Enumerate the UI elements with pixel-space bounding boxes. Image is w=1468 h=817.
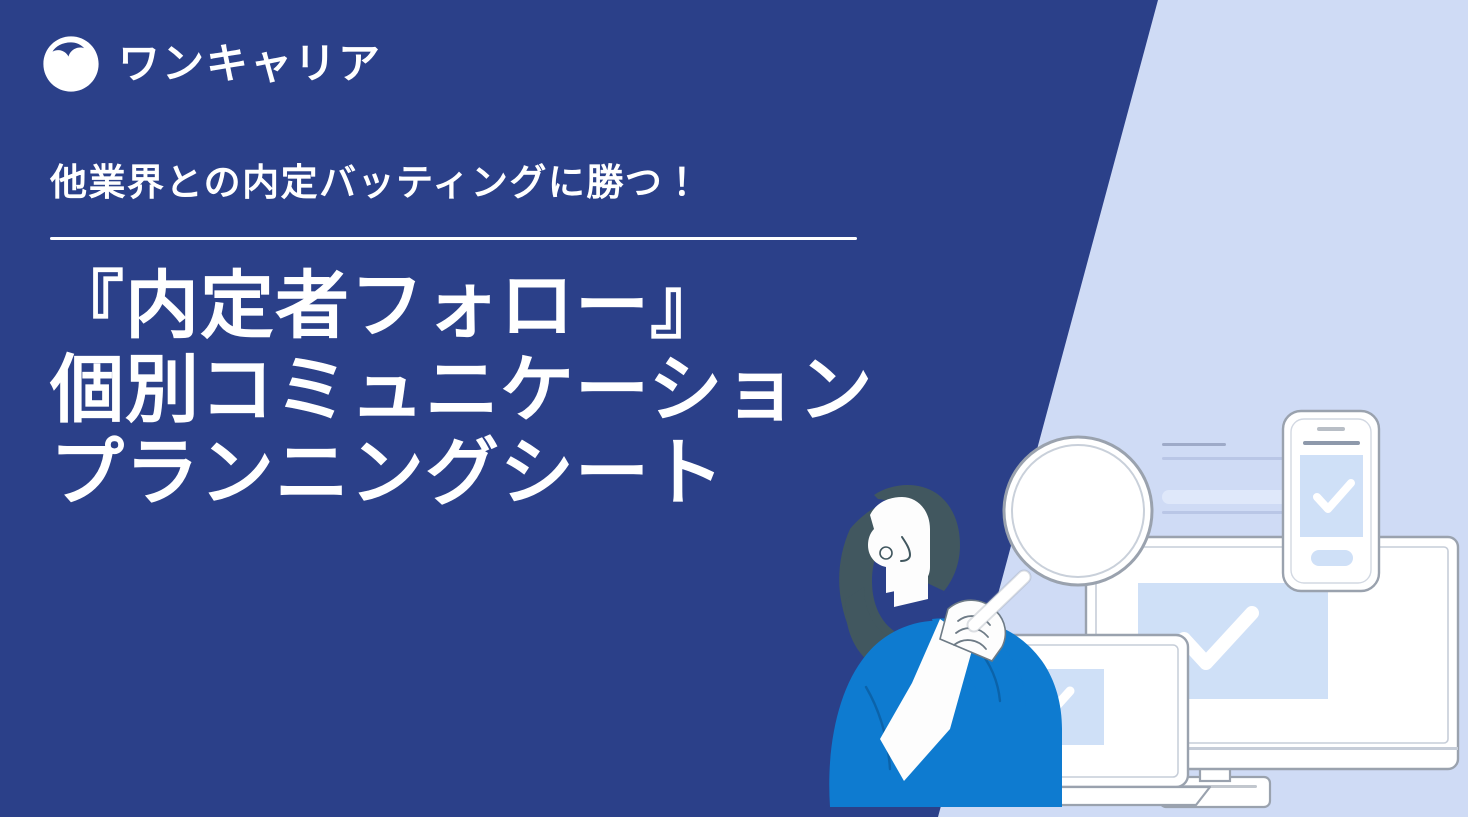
decorative-text-lines (1162, 443, 1362, 543)
onecareer-swirl-logo-icon (40, 33, 102, 95)
hero-copy: 他業界との内定バッティングに勝つ！ 『内定者フォロー』 個別コミュニケーション … (50, 160, 980, 515)
hero-title-line-3: プランニングシート (50, 431, 980, 515)
hero-title-line-1: 『内定者フォロー』 (50, 264, 980, 348)
hero-title: 『内定者フォロー』 個別コミュニケーション プランニングシート (50, 264, 980, 515)
hero-title-line-2: 個別コミュニケーション (50, 348, 980, 432)
smartphone-check (1283, 411, 1379, 591)
brand-logo: ワンキャリア (40, 33, 382, 95)
brand-name: ワンキャリア (118, 43, 382, 85)
eyebrow-divider (50, 237, 857, 240)
hero-eyebrow: 他業界との内定バッティングに勝つ！ (50, 160, 980, 206)
desktop-monitor-check (1086, 537, 1458, 807)
hero-banner: ワンキャリア 他業界との内定バッティングに勝つ！ 『内定者フォロー』 個別コミュ… (0, 0, 1468, 817)
